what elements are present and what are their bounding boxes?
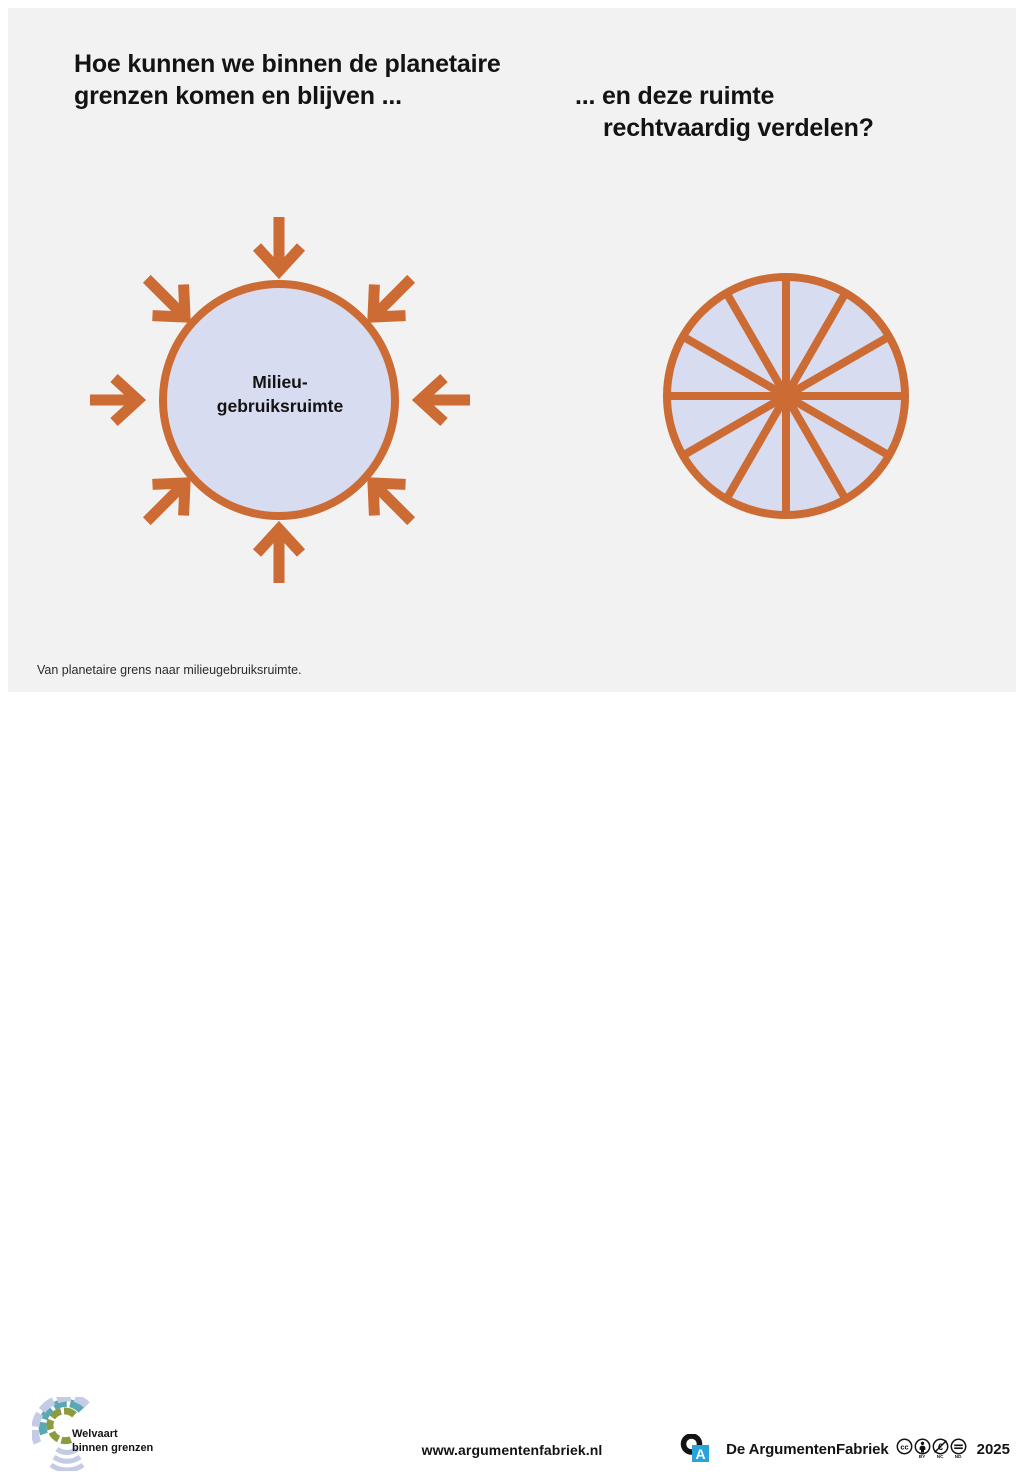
fair-share-svg — [640, 250, 932, 542]
planetary-boundary-svg — [90, 215, 470, 585]
arrow-top — [257, 217, 301, 271]
welvaart-logo-text: Welvaart binnen grenzen — [72, 1428, 153, 1456]
olive-ring — [50, 1411, 75, 1441]
creative-commons-icon: cc — [896, 1438, 913, 1455]
arrow-right — [420, 378, 470, 422]
planetary-boundary-diagram — [90, 215, 470, 585]
argumentenfabriek-mark-svg: A — [679, 1434, 719, 1464]
figure-caption: Van planetaire grens naar milieugebruiks… — [37, 663, 302, 677]
noderivatives-icon — [950, 1438, 967, 1455]
cc-badge-nc-caption: NC — [932, 1454, 949, 1459]
cc-badge-by-caption: BY — [914, 1454, 931, 1459]
environmental-space-circle — [163, 284, 395, 516]
attribution-person-icon — [914, 1438, 931, 1455]
argumentenfabriek-mark: A — [679, 1434, 719, 1464]
argumentenfabriek-name: De ArgumentenFabriek — [726, 1441, 888, 1458]
page-title-right-line1: ... en deze ruimte — [575, 82, 774, 110]
arrow-bottom — [257, 529, 301, 583]
license-badges: cc BY € — [896, 1438, 967, 1460]
argumentenfabriek-footer-logo: A De ArgumentenFabriek cc — [679, 1432, 1010, 1466]
license-year: 2025 — [977, 1441, 1010, 1458]
cc-badge-cc: cc — [896, 1438, 913, 1460]
arrow-left — [90, 378, 138, 422]
page-title-right-line2: rechtvaardig verdelen? — [575, 112, 975, 144]
page-title-left: Hoe kunnen we binnen de planetaire grenz… — [74, 48, 564, 112]
cc-badge-nd: ND — [950, 1438, 967, 1460]
footer-bar: Welvaart binnen grenzen www.argumentenfa… — [0, 694, 1024, 785]
svg-text:cc: cc — [900, 1443, 908, 1452]
cc-badge-nd-caption: ND — [950, 1454, 967, 1459]
cc-badge-nc: € NC — [932, 1438, 949, 1460]
poster-canvas: Hoe kunnen we binnen de planetaire grenz… — [0, 0, 1024, 785]
footer-website-url[interactable]: www.argumentenfabriek.nl — [422, 1442, 603, 1458]
page-title-right: ... en deze ruimte rechtvaardig verdelen… — [575, 48, 975, 176]
noncommercial-icon: € — [932, 1438, 949, 1455]
argumentenfabriek-mark-letter: A — [696, 1446, 706, 1462]
fair-share-hub — [781, 391, 791, 401]
fair-share-diagram — [640, 250, 932, 542]
cc-badge-by: BY — [914, 1438, 931, 1460]
